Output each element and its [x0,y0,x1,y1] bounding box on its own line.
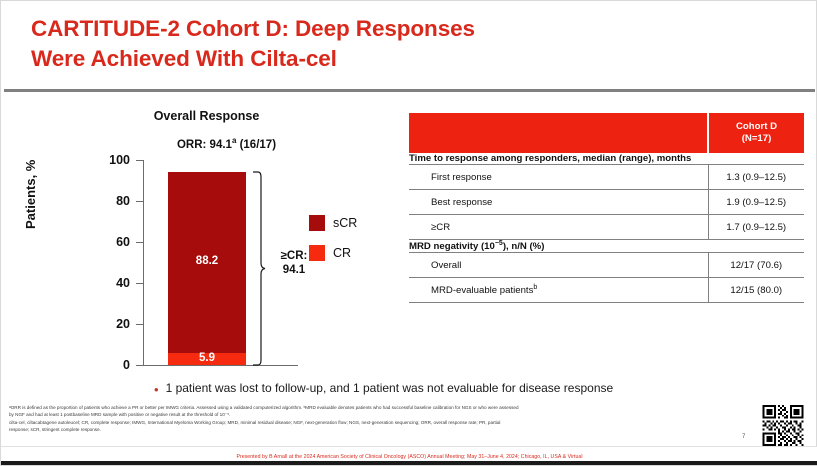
legend-swatch-cr-icon [309,245,325,261]
y-tick-mark-0 [136,365,143,366]
page-title-line-1: CARTITUDE-2 Cohort D: Deep Responses [31,14,791,44]
title-band: CARTITUDE-2 Cohort D: Deep Responses Wer… [4,4,815,92]
table-cell-label-text: MRD-evaluable patients [431,285,533,296]
mrd-heading-prefix: MRD negativity (10 [409,241,495,252]
qr-code-icon[interactable] [758,405,808,446]
table-cell-label: Overall [409,253,708,278]
bar-value-label-scr: 88.2 [168,255,246,267]
table-section-heading-label: Time to response among responders, media… [409,153,804,165]
table-cell-label: ≥CR [409,215,708,240]
footnote-line-2: by NGF and had at least 1 postbaseline M… [9,411,744,418]
bullet-marker-icon: • [154,383,159,396]
footer-rule [1,461,817,465]
legend-item-scr[interactable]: sCR [309,215,357,231]
y-tick-label-100: 100 [88,153,130,167]
table-header-cohort-cell: Cohort D (N=17) [708,113,804,153]
table-cell-value: 1.3 (0.9–12.5) [708,165,804,190]
chart-orr-fraction: (16/17) [236,139,276,151]
table-row[interactable]: MRD-evaluable patientsb 12/15 (80.0) [409,278,804,303]
table-section-heading-time-to-response: Time to response among responders, media… [409,153,804,165]
ge-cr-brace-icon [252,171,267,366]
legend-label-scr: sCR [333,216,357,230]
y-axis-title: Patients, % [23,160,38,229]
slide-body: Overall Response ORR: 94.1a (16/17) Pati… [4,95,815,397]
footnote-line-4: response; sCR, stringent complete respon… [9,426,744,433]
table-section-heading-label: MRD negativity (10−5), n/N (%) [409,240,804,253]
table-cell-label: First response [409,165,708,190]
table-section-heading-mrd-negativity: MRD negativity (10−5), n/N (%) [409,240,804,253]
legend-item-cr[interactable]: CR [309,245,357,261]
overall-response-chart: Overall Response ORR: 94.1a (16/17) Pati… [64,109,404,374]
y-tick-label-80: 80 [88,194,130,208]
footnotes-block: ᵃORR is defined as the proportion of pat… [9,404,744,434]
y-tick-label-60: 60 [88,235,130,249]
slide-canvas: CARTITUDE-2 Cohort D: Deep Responses Wer… [0,0,817,466]
table-header-cohort-line-2: (N=17) [709,133,804,145]
table-header-blank-cell [409,113,708,153]
y-tick-label-40: 40 [88,276,130,290]
page-number: 7 [742,434,745,440]
table-row[interactable]: ≥CR 1.7 (0.9–12.5) [409,215,804,240]
table-row[interactable]: Best response 1.9 (0.9–12.5) [409,190,804,215]
table-cell-value: 12/15 (80.0) [708,278,804,303]
y-axis-line [143,160,144,365]
table-header-row: Cohort D (N=17) [409,113,804,153]
legend-label-cr: CR [333,246,351,260]
x-axis-line [143,365,298,366]
table-row[interactable]: First response 1.3 (0.9–12.5) [409,165,804,190]
footnote-line-3: cilta-cel, ciltacabtagene autoleucel; CR… [9,419,744,426]
presented-by-text: Presented by B Arnall at the 2024 Americ… [1,454,817,460]
table-cell-footnote-marker: b [533,284,537,291]
chart-title: Overall Response [64,109,349,123]
page-title: CARTITUDE-2 Cohort D: Deep Responses Wer… [31,14,791,74]
footnote-line-1: ᵃORR is defined as the proportion of pat… [9,404,744,411]
mrd-heading-exponent: −5 [495,240,503,247]
page-title-line-2: Were Achieved With Cilta-cel [31,44,791,74]
bar-value-label-cr: 5.9 [168,352,246,364]
table-row[interactable]: Overall 12/17 (70.6) [409,253,804,278]
table-cell-label: Best response [409,190,708,215]
table-cell-label: MRD-evaluable patientsb [409,278,708,303]
bullet-text: 1 patient was lost to follow-up, and 1 p… [166,381,614,395]
table-cell-value: 12/17 (70.6) [708,253,804,278]
footnote-bullet: • 1 patient was lost to follow-up, and 1… [154,381,774,396]
y-tick-label-0: 0 [88,358,130,372]
chart-legend: sCR CR [309,215,357,275]
mrd-heading-suffix: ), n/N (%) [503,241,545,252]
legend-swatch-scr-icon [309,215,325,231]
table-cell-value: 1.9 (0.9–12.5) [708,190,804,215]
table-cell-value: 1.7 (0.9–12.5) [708,215,804,240]
chart-orr-value: ORR: 94.1 [177,139,232,151]
stacked-bar-overall-response[interactable]: 88.2 5.9 [168,172,246,365]
response-data-table: Cohort D (N=17) Time to response among r… [409,113,804,303]
chart-orr-annotation: ORR: 94.1a (16/17) [104,136,349,151]
y-tick-label-20: 20 [88,317,130,331]
table-header-cohort-line-1: Cohort D [709,121,804,133]
